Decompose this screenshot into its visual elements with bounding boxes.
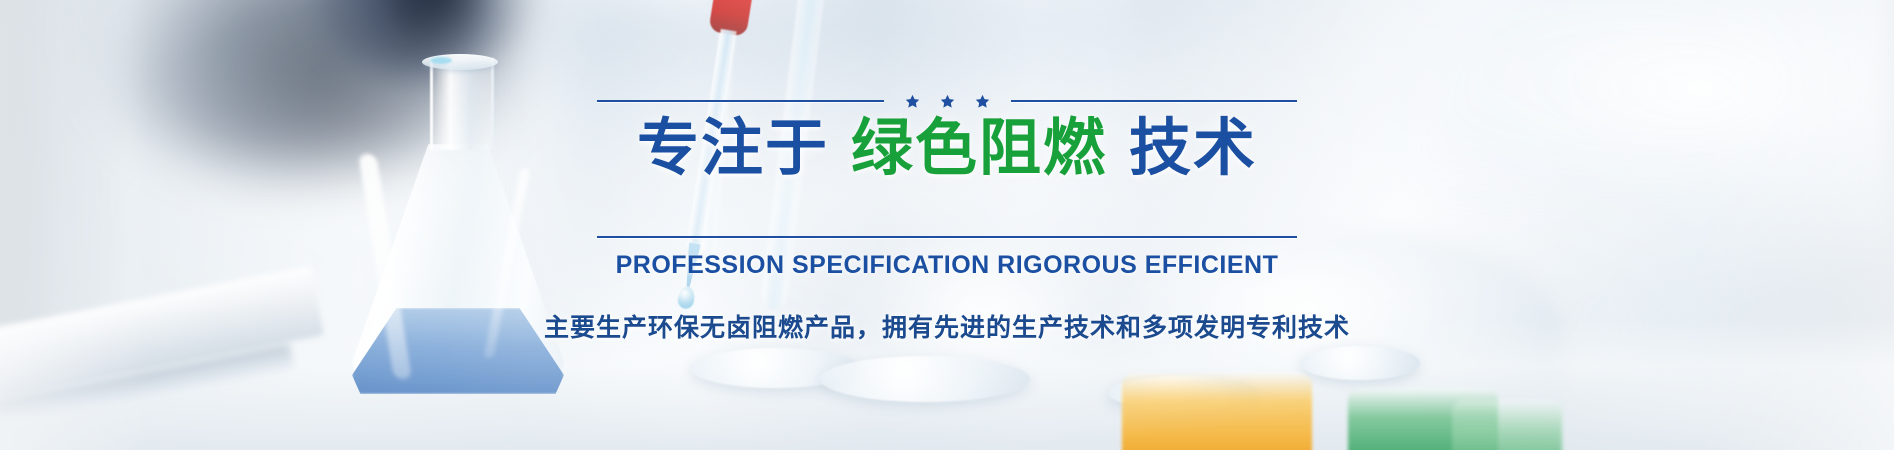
banner-content: 专注于绿色阻燃技术 PROFESSION SPECIFICATION RIGOR…	[0, 0, 1894, 450]
page-title: 专注于绿色阻燃技术	[637, 118, 1257, 180]
bottom-divider	[597, 236, 1297, 238]
divider-line-right	[1011, 100, 1298, 102]
star-group	[904, 93, 991, 110]
headline-part-3: 技术	[1129, 114, 1257, 183]
star-icon	[939, 93, 956, 110]
divider-line-left	[597, 100, 884, 102]
headline-part-1: 专注于	[637, 114, 829, 183]
hero-banner: 专注于绿色阻燃技术 PROFESSION SPECIFICATION RIGOR…	[0, 0, 1894, 450]
tagline-chinese: 主要生产环保无卤阻燃产品，拥有先进的生产技术和多项发明专利技术	[544, 308, 1350, 344]
top-divider	[597, 92, 1297, 110]
headline-part-2: 绿色阻燃	[851, 114, 1107, 183]
star-icon	[904, 93, 921, 110]
subtitle-english: PROFESSION SPECIFICATION RIGOROUS EFFICI…	[616, 251, 1279, 280]
star-icon	[974, 93, 991, 110]
